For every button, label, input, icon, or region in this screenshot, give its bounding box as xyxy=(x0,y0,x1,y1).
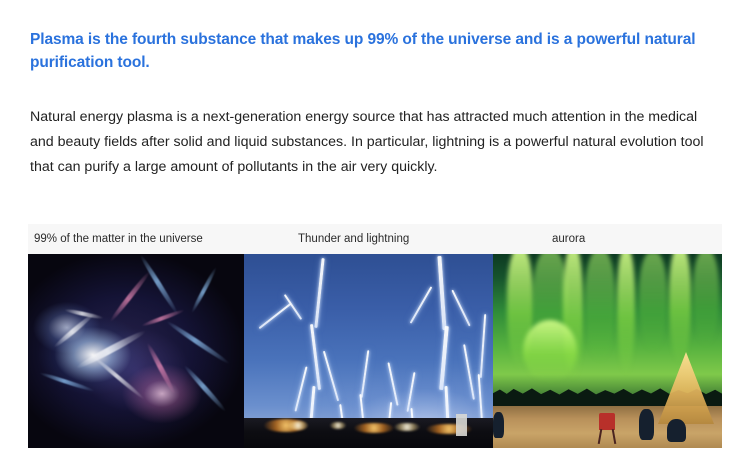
photo-row xyxy=(28,254,722,448)
body-paragraph: Natural energy plasma is a next-generati… xyxy=(30,105,720,180)
plasma-nebula-photo xyxy=(28,254,244,448)
page-title: Plasma is the fourth substance that make… xyxy=(30,28,710,74)
caption-row: 99% of the matter in the universe Thunde… xyxy=(28,224,722,254)
person-standing xyxy=(639,409,654,440)
lightning-storm-photo xyxy=(244,254,493,448)
camp-chair xyxy=(599,413,615,430)
person-crouching xyxy=(667,419,686,442)
article-page: Plasma is the fourth substance that make… xyxy=(0,0,750,451)
caption-aurora: aurora xyxy=(493,224,722,254)
caption-universe: 99% of the matter in the universe xyxy=(28,224,244,254)
image-gallery: 99% of the matter in the universe Thunde… xyxy=(28,224,722,448)
person-edge xyxy=(493,412,504,438)
caption-thunder: Thunder and lightning xyxy=(244,224,493,254)
teepee xyxy=(658,352,714,424)
aurora-borealis-photo xyxy=(493,254,722,448)
